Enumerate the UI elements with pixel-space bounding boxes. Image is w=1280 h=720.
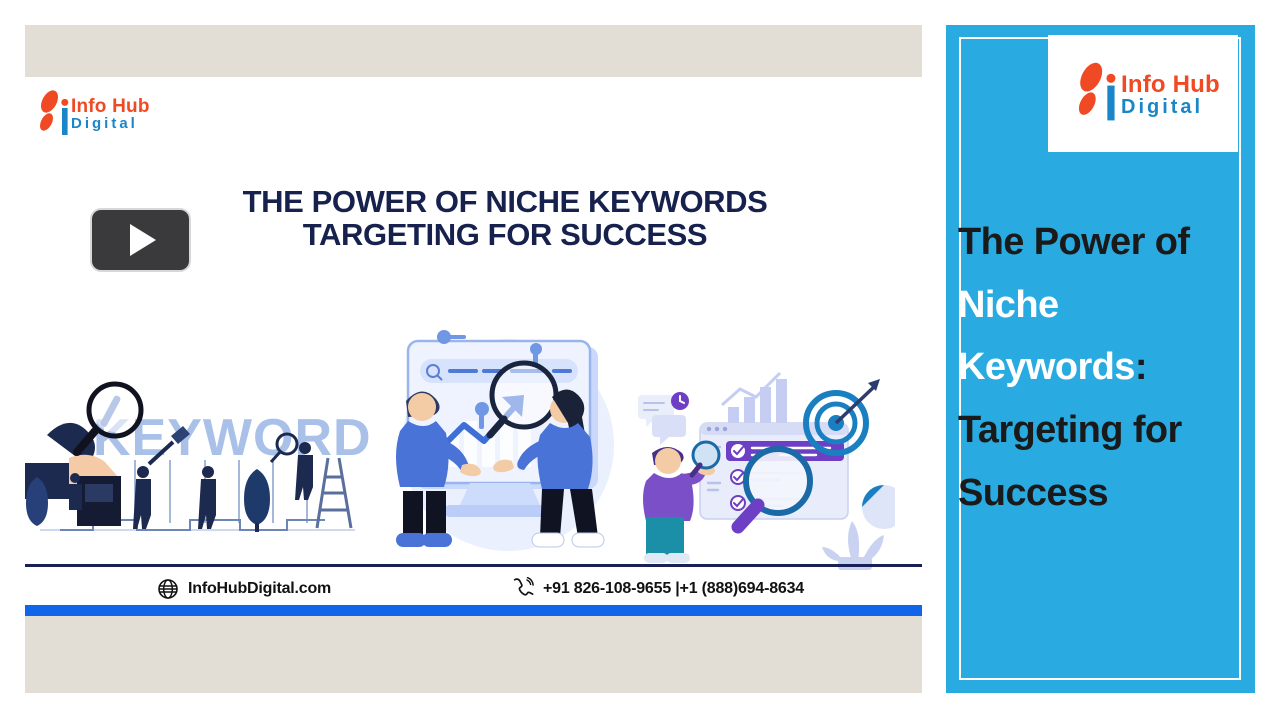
seo-audit-target-illustration xyxy=(630,365,895,570)
sidebar-logo-box: Info Hub Digital xyxy=(1048,35,1238,152)
seo-analytics-team-illustration xyxy=(378,325,633,565)
sidebar-heading-part2: of xyxy=(1155,221,1190,263)
footer-website-text: InfoHubDigital.com xyxy=(188,580,331,598)
butterfly-logo-mark xyxy=(34,89,74,137)
page-title-line1: THE POWER OF NICHE KEYWORDS xyxy=(155,185,855,218)
sidebar-heading-part1: The Power xyxy=(958,221,1145,263)
bottom-beige-band xyxy=(25,613,922,693)
play-triangle-icon xyxy=(130,224,156,256)
footer-website[interactable]: InfoHubDigital.com xyxy=(157,578,331,600)
slide-canvas: Info Hub Digital THE POWER OF NICHE KEYW… xyxy=(0,0,1280,720)
page-title-line2: TARGETING FOR SUCCESS xyxy=(155,218,855,251)
globe-icon xyxy=(157,578,179,600)
footer-phone[interactable]: +91 826-108-9655 |+1 (888)694-8634 xyxy=(513,577,804,601)
sidebar-heading-highlight2: Keywords xyxy=(958,346,1135,388)
butterfly-logo-mark xyxy=(1071,61,1123,123)
presentation-slide: Info Hub Digital THE POWER OF NICHE KEYW… xyxy=(25,25,922,693)
footer-phone-text: +91 826-108-9655 |+1 (888)694-8634 xyxy=(543,580,804,598)
sidebar-heading: The Power of Niche Keywords: Targeting f… xyxy=(958,211,1235,524)
logo-text-line2: Digital xyxy=(71,116,150,132)
page-title: THE POWER OF NICHE KEYWORDS TARGETING FO… xyxy=(155,185,855,252)
footer-bar: InfoHubDigital.com +91 826-108-9655 |+1 … xyxy=(25,573,922,605)
logo-text-line1: Info Hub xyxy=(71,97,150,116)
keyword-construction-illustration: KEYWORD xyxy=(25,380,370,565)
sidebar-panel: Info Hub Digital The Power of Niche Keyw… xyxy=(946,25,1255,693)
sidebar-heading-part3: : xyxy=(1135,346,1147,388)
footer-divider xyxy=(25,564,922,567)
sidebar-logo-text-line2: Digital xyxy=(1121,97,1220,118)
footer-accent-bar xyxy=(25,605,922,616)
top-beige-band xyxy=(25,25,922,77)
sidebar-heading-part4: Targeting xyxy=(958,409,1123,451)
phone-ring-icon xyxy=(513,577,535,601)
sidebar-logo-text-line1: Info Hub xyxy=(1121,73,1220,97)
sidebar-heading-highlight1: Niche xyxy=(958,284,1058,326)
slide-logo: Info Hub Digital xyxy=(30,87,160,142)
